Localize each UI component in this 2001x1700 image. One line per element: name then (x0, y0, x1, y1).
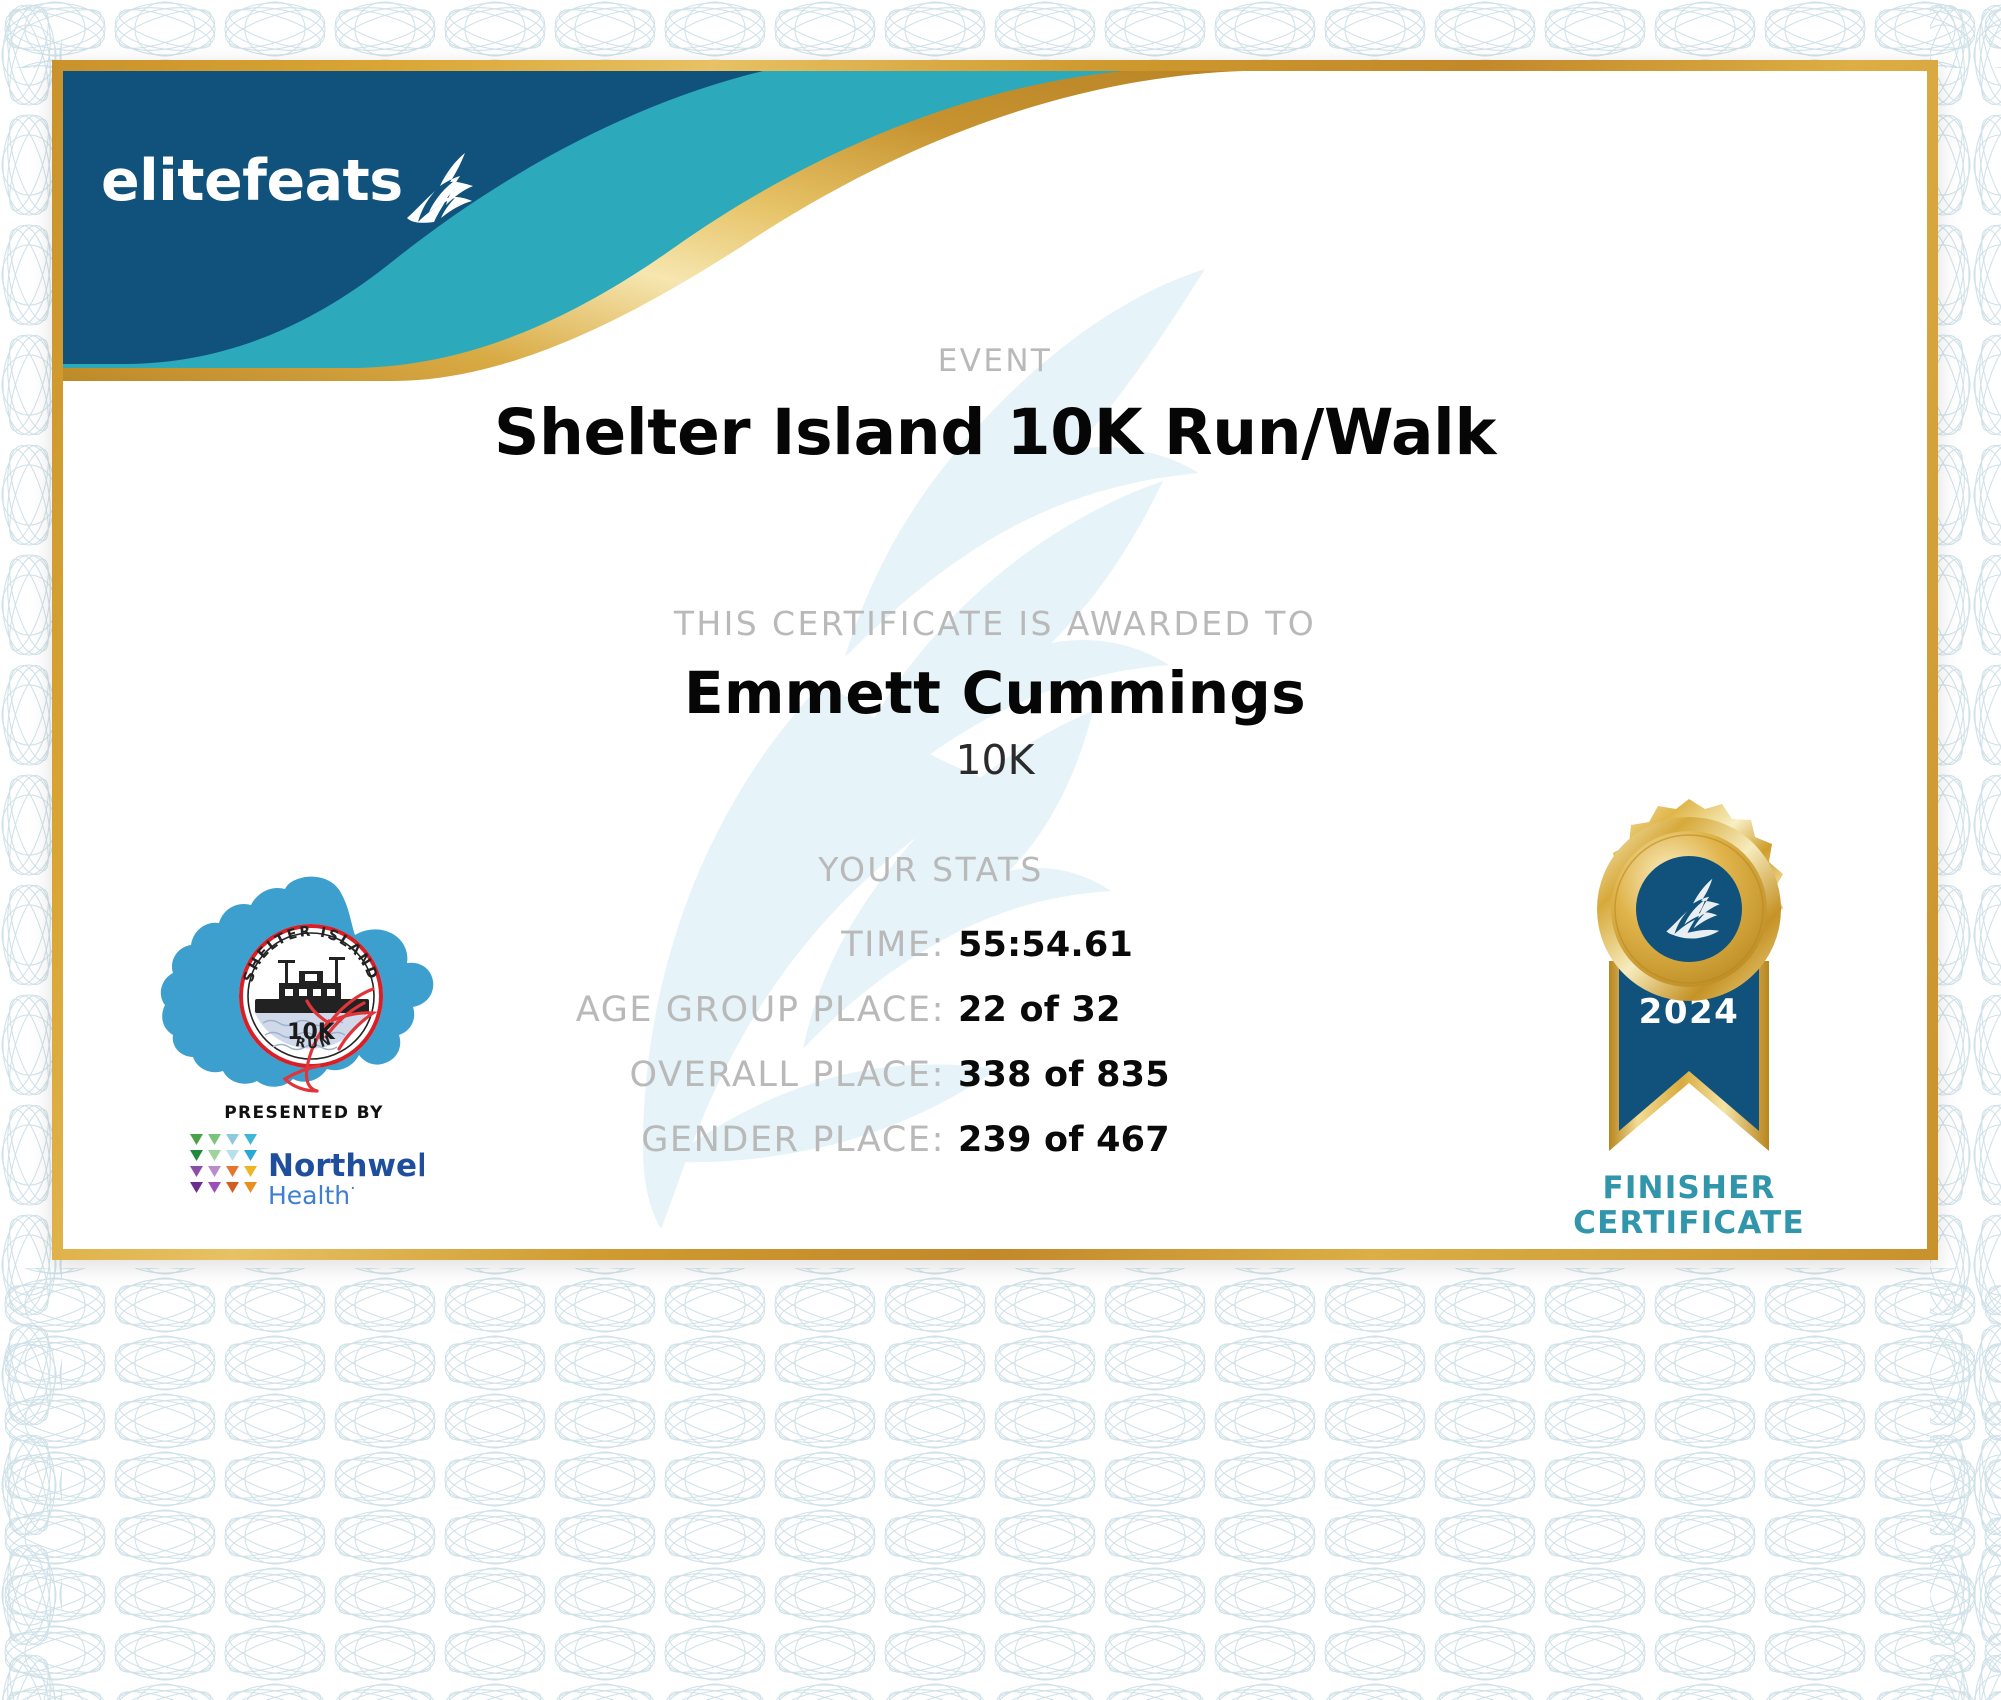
recipient-division: 10K (63, 736, 1927, 784)
awarded-to-label: THIS CERTIFICATE IS AWARDED TO (63, 604, 1927, 643)
northwell-chevron-mark-icon: Northwell Health· (184, 1130, 424, 1214)
stat-value-time: 55:54.61 (958, 925, 1133, 965)
finisher-caption-line1: FINISHER (1511, 1171, 1867, 1206)
sponsor-name-line1: Northwell (268, 1148, 424, 1184)
event-name: Shelter Island 10K Run/Walk (63, 396, 1927, 469)
sponsor-name-line2: Health· (268, 1179, 356, 1210)
presented-by-label: PRESENTED BY (159, 1103, 449, 1123)
medal-rosette (1597, 799, 1783, 1001)
stat-value-overall-place: 338 of 835 (958, 1055, 1170, 1095)
certificate-sheet: elitefeats EVENT Shelter Island 10K Run/… (52, 60, 1938, 1260)
race-logo-center-text: 10K (287, 1020, 336, 1045)
stat-value-gender-place: 239 of 467 (958, 1120, 1170, 1160)
finisher-medal-badge: 2024 (1539, 791, 1839, 1191)
shelter-island-race-logo: SHELTER ISLAND RUN 10K (159, 871, 449, 1121)
northwell-health-logo: Northwell Health· (159, 1129, 449, 1215)
finisher-certificate-caption: FINISHER CERTIFICATE (1511, 1171, 1867, 1240)
certificate-page: elitefeats EVENT Shelter Island 10K Run/… (0, 0, 2001, 1700)
finisher-caption-line2: CERTIFICATE (1511, 1206, 1867, 1241)
certificate-inner-surface: elitefeats EVENT Shelter Island 10K Run/… (63, 71, 1927, 1249)
recipient-name: Emmett Cummings (63, 659, 1927, 727)
stat-value-age-group-place: 22 of 32 (958, 990, 1121, 1030)
event-label: EVENT (63, 343, 1927, 379)
